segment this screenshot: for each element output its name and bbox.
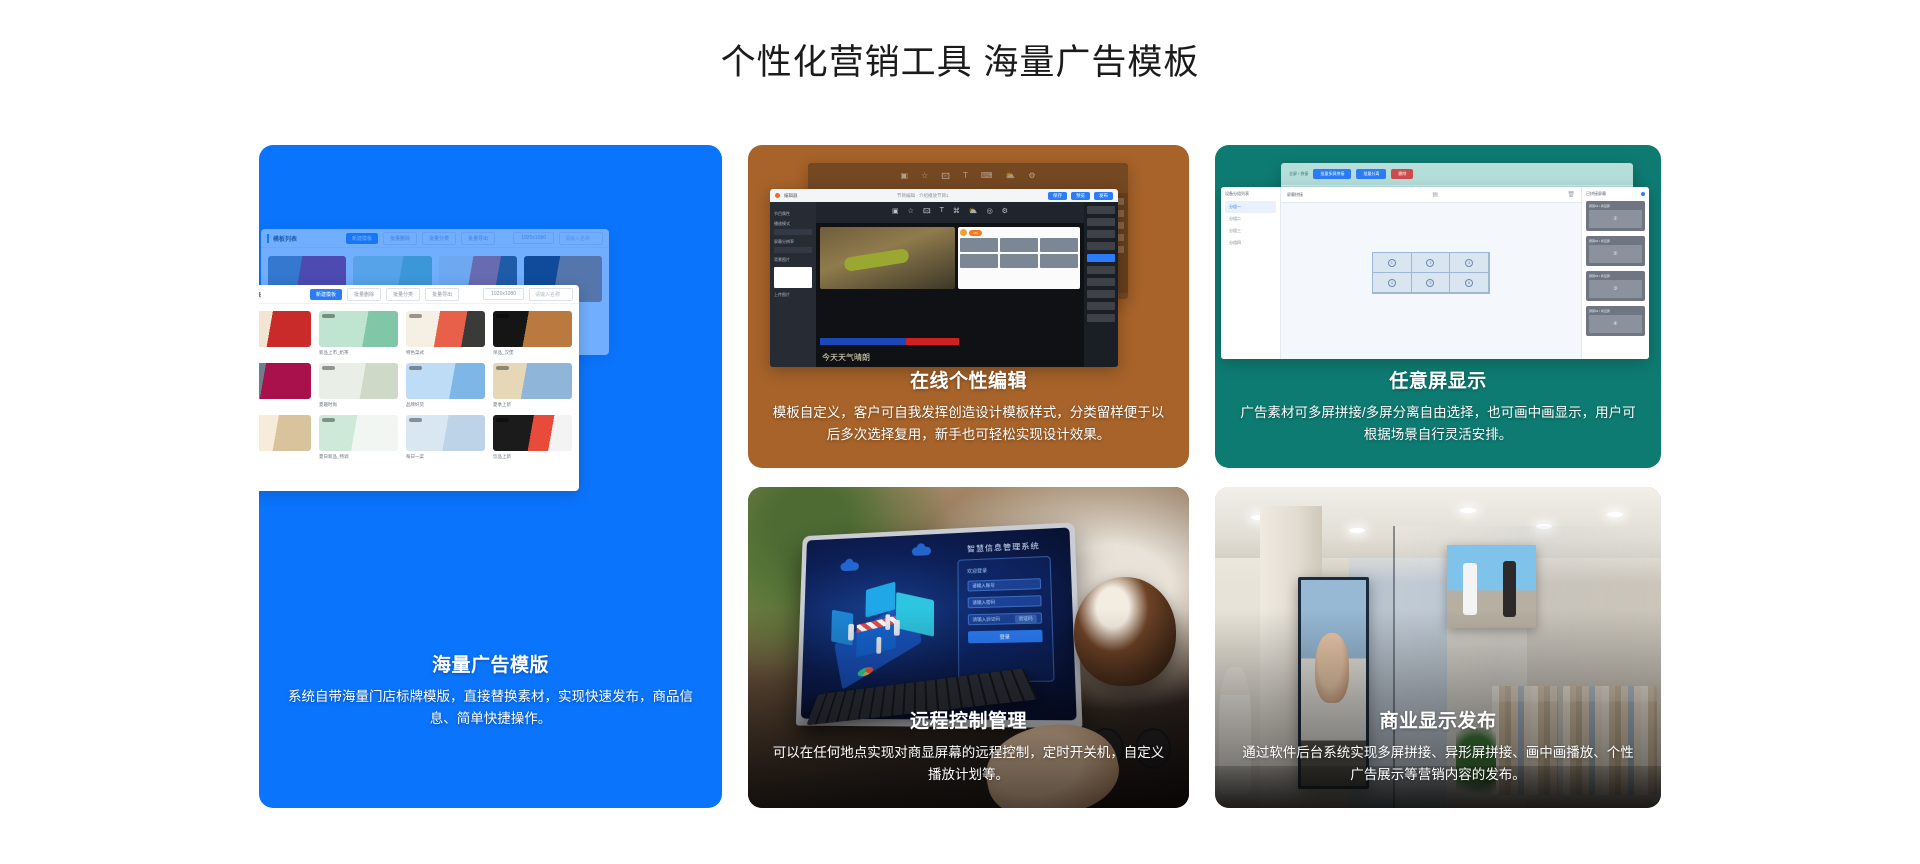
- screen-card-number: ③: [1589, 280, 1642, 298]
- spliced-screen-header: 已拼接屏幕: [1586, 191, 1645, 197]
- batch-splice-button[interactable]: 批量多屏拼接: [1313, 169, 1351, 179]
- template-card[interactable]: 品牌好货: [406, 363, 485, 408]
- template-list-toolbar-back: 模板列表 新建模板 批量删除 批量分类 批量导出 1920x1080 请输入名称: [261, 229, 609, 248]
- feature-card-mass-ad-templates[interactable]: 模板列表 新建模板 批量删除 批量分类 批量导出 1920x1080 请输入名称: [259, 145, 722, 808]
- component-item[interactable]: [1087, 242, 1115, 250]
- image-icon: 🖾: [941, 171, 950, 185]
- new-template-button-back[interactable]: 新建模板: [346, 233, 378, 244]
- template-list-toolbar: 模板列表 新建模板 批量删除 批量分类 批量导出 1920x1080 请输入名称: [259, 285, 579, 304]
- template-caption: 夏趣时尚: [319, 402, 398, 408]
- card-title: 商业显示发布: [1239, 706, 1637, 733]
- feature-card-grid: 模板列表 新建模板 批量删除 批量分类 批量导出 1920x1080 请输入名称: [259, 145, 1661, 808]
- ceiling-light: [1607, 512, 1623, 517]
- editor-titlebar: 编辑器 节目编辑 · 介绍播放节目1 保存 预览 发布: [770, 189, 1118, 202]
- device-group-tree: 设备分组列表 分组一 分组二 分组三 分组四: [1221, 187, 1281, 359]
- background-preview[interactable]: [774, 267, 812, 288]
- web-icon[interactable]: ⌘: [953, 207, 960, 218]
- spliced-screen-list: 已拼接屏幕 屏幕01 / 商显屏 ① 屏幕02 / 商显屏 ② 屏幕03 / 商…: [1581, 187, 1649, 359]
- splice-canvas-panel: 屏幕拼接 ▤ 🗑: [1281, 187, 1581, 359]
- editor-component-toolbar: ▣ ☆ 🖾 T ⌘ ⛅ ◎ ⚙: [816, 202, 1084, 223]
- image-icon[interactable]: 🖾: [923, 207, 931, 218]
- delete-button[interactable]: 删除: [1391, 169, 1413, 179]
- resolution-select[interactable]: [774, 247, 812, 253]
- template-card[interactable]: 中餐厅: [259, 311, 311, 356]
- spliced-screen-title: 已拼接屏幕: [1586, 191, 1606, 197]
- batch-separate-button[interactable]: 批量分离: [1356, 169, 1386, 179]
- ceiling-light: [1460, 508, 1476, 513]
- cloud-icon: [841, 562, 860, 571]
- template-card[interactable]: 特色菜式: [406, 311, 485, 356]
- card-title: 在线个性编辑: [772, 366, 1165, 393]
- new-template-button[interactable]: 新建模板: [310, 289, 342, 300]
- web-icon: ⌨: [981, 171, 993, 185]
- card-description: 通过软件后台系统实现多屏拼接、异形屏拼接、画中画播放、个性广告展示等营销内容的发…: [1239, 742, 1637, 786]
- feature-card-commercial-display-publishing[interactable]: 商业显示发布 通过软件后台系统实现多屏拼接、异形屏拼接、画中画播放、个性广告展示…: [1215, 487, 1661, 808]
- template-thumbnail: [406, 363, 485, 399]
- device-group-item-4[interactable]: 分组四: [1225, 237, 1276, 249]
- template-thumbnail: [259, 311, 311, 347]
- component-item-selected[interactable]: [1087, 254, 1115, 262]
- template-list-screenshot: 模板列表 新建模板 批量删除 批量分类 批量导出 1920x1080 请输入名称…: [259, 285, 579, 491]
- web-thumb-grid: [960, 238, 1078, 268]
- grid-icon[interactable]: ▤: [1432, 191, 1438, 198]
- star-icon: ☆: [921, 171, 928, 185]
- web-thumb: [960, 254, 998, 268]
- clock-icon[interactable]: ◎: [987, 207, 993, 218]
- web-thumb: [1000, 238, 1038, 252]
- screen-card-name: 屏幕04 / 商显屏: [1589, 309, 1642, 313]
- template-caption: 时尚男女: [259, 402, 311, 408]
- web-thumb: [1040, 254, 1078, 268]
- component-item[interactable]: [1087, 314, 1115, 322]
- resolution-label: 屏幕分辨率: [774, 239, 812, 245]
- template-thumbnail: [319, 415, 398, 451]
- marketing-feature-page: 个性化营销工具 海量广告模板 模板列表 新建模板 批量删除 批量分类 批量导出 …: [0, 0, 1920, 864]
- template-card[interactable]: 咖啡饮品: [259, 415, 311, 460]
- template-caption: 中餐厅: [259, 350, 311, 356]
- batch-category-button[interactable]: 批量分类: [386, 288, 420, 301]
- card-description: 系统自带海量门店标牌模版，直接替换素材，实现快速发布，商品信息、简单快捷操作。: [283, 686, 698, 730]
- splice-cell-6[interactable]: [1450, 273, 1489, 293]
- template-grid: 中餐厅 新品上市_奶茶 特色菜式 单品_汉堡 时尚男女 夏趣时尚 品牌好货 夏季…: [259, 304, 579, 467]
- batch-delete-button-back[interactable]: 批量删除: [383, 232, 417, 245]
- template-thumbnail: [493, 415, 572, 451]
- web-header: HD: [960, 229, 1078, 236]
- editor-screenshot: 编辑器 节目编辑 · 介绍播放节目1 保存 预览 发布 节目属性 播放模式 屏幕…: [770, 189, 1118, 367]
- splice-toolbar-back: 全屏 / 拼接 批量多屏拼接 批量分离 删除: [1281, 163, 1633, 185]
- template-list-title: 模板列表: [259, 290, 261, 299]
- text-icon: T: [963, 171, 968, 185]
- editor-body: 节目属性 播放模式 屏幕分辨率 背景图片 上传图片 ▣ ☆ 🖾: [770, 202, 1118, 367]
- editor-window-title: 编辑器: [784, 193, 798, 199]
- background-label: 背景图片: [774, 257, 812, 263]
- star-icon[interactable]: ☆: [908, 207, 914, 218]
- splice-grid[interactable]: [1372, 252, 1490, 294]
- editor-canvas[interactable]: ▣ ☆ 🖾 T ⌘ ⛅ ◎ ⚙: [816, 202, 1084, 367]
- splice-label-back: 全屏 / 拼接: [1289, 171, 1308, 177]
- stage-ticker-region: [820, 338, 959, 345]
- feature-card-any-screen-display[interactable]: 全屏 / 拼接 批量多屏拼接 批量分离 删除 名称 屏幕类型 分辨率设置 在线状…: [1215, 145, 1661, 468]
- template-caption: 每日一菜: [406, 454, 485, 460]
- editor-property-panel: 节目属性 播放模式 屏幕分辨率 背景图片 上传图片: [770, 202, 816, 367]
- stage-video-region: [820, 227, 955, 289]
- screen-splice-screenshot: 设备分组列表 分组一 分组二 分组三 分组四 屏幕拼接 ▤ 🗑: [1221, 187, 1649, 359]
- template-thumbnail: [319, 363, 398, 399]
- card-description: 模板自定义，客户可自我发挥创造设计模板样式，分类留样便于以后多次选择复用，新手也…: [772, 402, 1165, 446]
- account-input[interactable]: 请输入账号: [967, 578, 1041, 591]
- template-caption: 单品_汉堡: [493, 350, 572, 356]
- publish-button[interactable]: 发布: [1094, 192, 1113, 200]
- editor-stage: HD: [816, 223, 1084, 293]
- card-text-block: 远程控制管理 可以在任何地点实现对商显屏幕的远程控制，定时开关机，自定义播放计划…: [748, 706, 1189, 786]
- batch-category-button-back[interactable]: 批量分类: [422, 232, 456, 245]
- splice-cell-1[interactable]: [1373, 253, 1412, 273]
- splice-cell-4[interactable]: [1373, 273, 1412, 293]
- device-group-item-1[interactable]: 分组一: [1225, 201, 1276, 213]
- password-input[interactable]: 请输入密码: [967, 595, 1042, 608]
- card-title: 海量广告模版: [283, 650, 698, 677]
- template-card[interactable]: 单品_汉堡: [493, 311, 572, 356]
- splice-cell-3[interactable]: [1450, 253, 1489, 273]
- video-icon[interactable]: ▣: [892, 207, 899, 218]
- weather-icon: ⛅: [1005, 171, 1015, 185]
- template-thumbnail: [259, 415, 311, 451]
- component-item[interactable]: [1087, 290, 1115, 298]
- site-logo-icon: [960, 229, 967, 236]
- editor-doc-title: 节目编辑 · 介绍播放节目1: [897, 193, 949, 199]
- login-form-label: 欢迎登录: [967, 565, 1041, 575]
- batch-export-button[interactable]: 批量导出: [425, 288, 459, 301]
- card-description: 可以在任何地点实现对商显屏幕的远程控制，定时开关机，自定义播放计划等。: [772, 742, 1165, 786]
- component-item[interactable]: [1087, 302, 1115, 310]
- template-caption: 饮品上新: [493, 454, 572, 460]
- template-thumbnail: [406, 415, 485, 451]
- password-placeholder: 请输入密码: [972, 599, 995, 606]
- stage-marquee-text: 今天天气晴朗: [822, 352, 870, 363]
- weather-icon[interactable]: ⛅: [969, 207, 978, 218]
- editor-component-list: [1084, 202, 1118, 367]
- resolution-select-back[interactable]: 1920x1080: [513, 232, 554, 244]
- web-thumb: [1040, 238, 1078, 252]
- splice-cell-5[interactable]: [1412, 273, 1451, 293]
- component-item[interactable]: [1087, 278, 1115, 286]
- template-list-title-back: 模板列表: [267, 234, 297, 243]
- template-thumbnail: [406, 311, 485, 347]
- play-mode-label: 播放模式: [774, 221, 812, 227]
- card-description: 广告素材可多屏拼接/多屏分离自由选择，也可画中画显示，用户可根据场景自行灵活安排…: [1239, 402, 1637, 446]
- batch-delete-button[interactable]: 批量删除: [347, 288, 381, 301]
- settings-icon[interactable]: ⚙: [1002, 207, 1008, 218]
- component-item[interactable]: [1087, 266, 1115, 274]
- screen-card-number: ④: [1589, 315, 1642, 333]
- template-card[interactable]: 每日一菜: [406, 415, 485, 460]
- component-item[interactable]: [1087, 218, 1115, 226]
- template-caption: 夏日新品_特调: [319, 454, 398, 460]
- account-placeholder: 请输入账号: [972, 582, 995, 589]
- card-text-block: 海量广告模版 系统自带海量门店标牌模版，直接替换素材，实现快速发布，商品信息、简…: [259, 650, 722, 730]
- component-item[interactable]: [1087, 230, 1115, 238]
- template-caption: 咖啡饮品: [259, 454, 311, 460]
- app-logo-icon: [775, 193, 780, 198]
- template-card[interactable]: 夏日新品_特调: [319, 415, 398, 460]
- template-thumbnail: [319, 311, 398, 347]
- template-caption: 新品上市_奶茶: [319, 350, 398, 356]
- template-caption: 夏季上新: [493, 402, 572, 408]
- device-group-title: 设备分组列表: [1225, 191, 1276, 197]
- splice-canvas-header: 屏幕拼接 ▤ 🗑: [1281, 187, 1581, 203]
- template-card[interactable]: 夏季上新: [493, 363, 572, 408]
- screen-card-number: ①: [1589, 210, 1642, 228]
- status-dot-icon: [1641, 192, 1645, 196]
- splice-canvas-title: 屏幕拼接: [1287, 192, 1303, 198]
- splice-cell-2[interactable]: [1412, 253, 1451, 273]
- component-item[interactable]: [1087, 206, 1115, 214]
- trash-icon[interactable]: 🗑: [1567, 191, 1575, 198]
- template-thumbnail: [493, 363, 572, 399]
- card-text-block: 任意屏显示 广告素材可多屏拼接/多屏分离自由选择，也可画中画显示，用户可根据场景…: [1215, 366, 1661, 446]
- web-thumb: [1000, 254, 1038, 268]
- site-badge: HD: [969, 230, 981, 236]
- batch-export-button-back[interactable]: 批量导出: [461, 232, 495, 245]
- template-thumbnail: [493, 311, 572, 347]
- save-button[interactable]: 保存: [1048, 192, 1067, 200]
- splice-canvas-wrap: [1281, 203, 1581, 343]
- page-title: 个性化营销工具 海量广告模板: [0, 40, 1920, 86]
- device-group-item-2[interactable]: 分组二: [1225, 213, 1276, 225]
- text-icon[interactable]: T: [940, 207, 944, 218]
- template-card[interactable]: 新品上市_奶茶: [319, 311, 398, 356]
- template-card[interactable]: 夏趣时尚: [319, 363, 398, 408]
- template-card[interactable]: 饮品上新: [493, 415, 572, 460]
- web-thumb: [960, 238, 998, 252]
- screen-card[interactable]: 屏幕02 / 商显屏 ②: [1586, 236, 1645, 266]
- card-text-block: 在线个性编辑 模板自定义，客户可自我发挥创造设计模板样式，分类留样便于以后多次选…: [748, 366, 1189, 446]
- card-text-block: 商业显示发布 通过软件后台系统实现多屏拼接、异形屏拼接、画中画播放、个性广告展示…: [1215, 706, 1661, 786]
- screen-card[interactable]: 屏幕01 / 商显屏 ①: [1586, 201, 1645, 231]
- resolution-select[interactable]: 1920x1080: [483, 288, 524, 300]
- template-thumbnail: [259, 363, 311, 399]
- template-caption: 特色菜式: [406, 350, 485, 356]
- screen-card-name: 屏幕02 / 商显屏: [1589, 239, 1642, 243]
- screen-card[interactable]: 屏幕03 / 商显屏 ③: [1586, 271, 1645, 301]
- screen-card[interactable]: 屏幕04 / 商显屏 ④: [1586, 306, 1645, 336]
- card-title: 远程控制管理: [772, 706, 1165, 733]
- card-title: 任意屏显示: [1239, 366, 1637, 393]
- play-mode-select[interactable]: [774, 229, 812, 235]
- screen-card-number: ②: [1589, 245, 1642, 263]
- ceiling-light: [1349, 528, 1365, 533]
- screen-card-name: 屏幕01 / 商显屏: [1589, 204, 1642, 208]
- template-caption: 品牌好货: [406, 402, 485, 408]
- cloud-icon: [912, 546, 931, 555]
- screen-card-name: 屏幕03 / 商显屏: [1589, 274, 1642, 278]
- feature-card-online-personal-editing[interactable]: ▣ ☆ 🖾 T ⌨ ⛅ ⚙: [748, 145, 1189, 468]
- upload-label[interactable]: 上传图片: [774, 292, 812, 298]
- feature-card-remote-control-management[interactable]: 智慧信息管理系统 欢迎登录 请输入账号 请输入密码 请输入验证码 验证码 登录: [748, 487, 1189, 808]
- panel-title: 节目属性: [774, 211, 812, 217]
- system-title: 智慧信息管理系统: [958, 540, 1050, 555]
- search-input[interactable]: 请输入名称: [529, 288, 573, 301]
- device-group-item-3[interactable]: 分组三: [1225, 225, 1276, 237]
- search-input-back[interactable]: 请输入名称: [559, 232, 603, 245]
- stage-web-region: HD: [958, 227, 1080, 289]
- settings-icon: ⚙: [1028, 171, 1035, 185]
- preview-button[interactable]: 预览: [1071, 192, 1090, 200]
- video-icon: ▣: [900, 171, 908, 185]
- template-card[interactable]: 时尚男女: [259, 363, 311, 408]
